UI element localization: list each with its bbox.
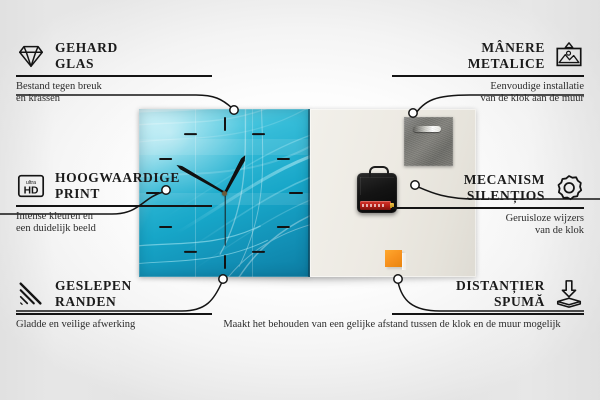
callout-description: Eenvoudige installatie van de klok aan d…	[392, 81, 584, 107]
diamond-icon	[16, 41, 46, 71]
callout-hoogwaardige-print: ultra HD HOOGWAARDIGE PRINT Intense kleu…	[16, 170, 212, 236]
callout-rule	[392, 75, 584, 77]
ultra-hd-icon-hd-label: HD	[24, 185, 39, 196]
clock-tick	[224, 255, 226, 269]
callout-geslepen-randen: GESLEPEN RANDEN Gladde en veilige afwerk…	[16, 278, 212, 331]
callout-title: GEHARD GLAS	[55, 40, 118, 71]
clock-tick	[184, 133, 197, 135]
callout-mecanism-silentios: MECANISM SILENȚIOS Geruisloze wijzers va…	[392, 172, 584, 238]
ultra-hd-icon: ultra HD	[16, 171, 46, 201]
battery-label	[362, 204, 386, 207]
foam-spacer	[385, 250, 402, 267]
bevelled-edges-icon	[16, 279, 46, 309]
clock-tick	[289, 192, 303, 194]
callout-title: GESLEPEN RANDEN	[55, 278, 132, 309]
callout-rule	[16, 75, 212, 77]
gear-icon	[554, 173, 584, 203]
infographic-canvas: GEHARD GLAS Bestand tegen breuk en krass…	[0, 0, 600, 400]
callout-rule	[392, 207, 584, 209]
clock-tick	[252, 133, 265, 135]
clock-tick	[184, 251, 197, 253]
callout-title: DISTANȚIER SPUMĂ	[456, 278, 545, 309]
callout-distantier-spuma: DISTANȚIER SPUMĂ Maakt het behouden van …	[392, 278, 584, 331]
clock-tick	[252, 251, 265, 253]
battery	[360, 201, 391, 210]
callout-title: HOOGWAARDIGE PRINT	[55, 170, 180, 201]
callout-rule	[16, 313, 212, 315]
clock-tick	[277, 158, 290, 160]
callout-gehard-glas: GEHARD GLAS Bestand tegen breuk en krass…	[16, 40, 212, 106]
hanger-keyhole-slot	[413, 126, 441, 132]
clock-hour-hand	[223, 154, 247, 194]
callout-description: Gladde en veilige afwerking	[16, 319, 212, 332]
callout-description: Maakt het behouden van een gelijke afsta…	[200, 319, 584, 332]
clock-second-hand	[224, 193, 225, 246]
clock-tick	[159, 158, 172, 160]
callout-description: Intense kleuren en een duidelijk beeld	[16, 211, 212, 237]
wall-hanging-picture-icon	[554, 41, 584, 71]
callout-title: MECANISM SILENȚIOS	[464, 172, 545, 203]
clock-center-cap	[222, 191, 227, 196]
arrow-down-onto-pad-icon	[554, 279, 584, 309]
callout-description: Bestand tegen breuk en krassen	[16, 81, 212, 107]
callout-rule	[392, 313, 584, 315]
callout-title: MÂNERE METALICE	[468, 40, 545, 71]
callout-manere-metalice: MÂNERE METALICE Eenvoudige installatie v…	[392, 40, 584, 106]
callout-description: Geruisloze wijzers van de klok	[392, 213, 584, 239]
metal-hanger-plate	[404, 117, 453, 166]
clock-tick	[224, 117, 226, 131]
clock-tick	[277, 226, 290, 228]
callout-rule	[16, 205, 212, 207]
mechanism-texture	[360, 177, 394, 195]
clock-mechanism	[357, 173, 397, 213]
